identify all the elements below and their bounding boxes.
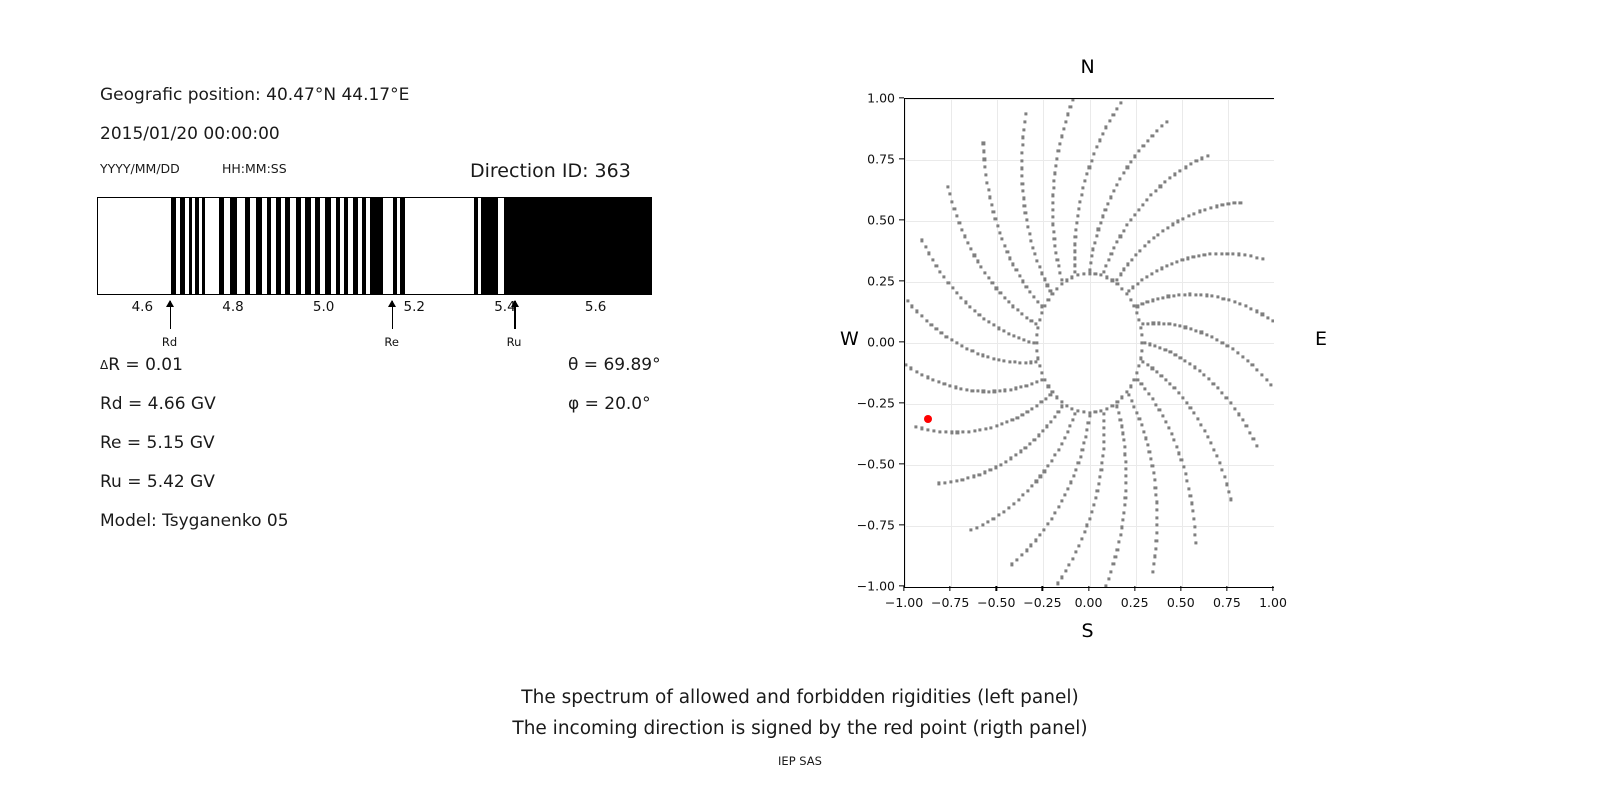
direction-point [1024, 211, 1027, 214]
direction-point [1140, 341, 1143, 344]
direction-point [1019, 361, 1022, 364]
direction-point [1116, 400, 1119, 403]
direction-point [1064, 493, 1067, 496]
direction-point [1016, 309, 1019, 312]
datetime-label: 2015/01/20 00:00:00 [100, 124, 280, 144]
direction-point [1123, 268, 1126, 271]
direction-point [1083, 442, 1086, 445]
direction-point [1116, 278, 1119, 281]
direction-point [1088, 166, 1091, 169]
direction-point [1073, 257, 1076, 260]
ru-value: Ru = 5.42 GV [100, 472, 215, 492]
direction-point [1173, 439, 1176, 442]
direction-point [1102, 440, 1105, 443]
direction-point [1080, 537, 1083, 540]
direction-point [1156, 297, 1159, 300]
direction-point [1154, 344, 1157, 347]
polar-axes: −1.00−0.75−0.50−0.250.000.250.500.751.00… [904, 98, 1274, 588]
direction-point [1027, 340, 1030, 343]
direction-point [1183, 293, 1186, 296]
direction-point [1171, 223, 1174, 226]
direction-point [1026, 489, 1029, 492]
direction-point [983, 271, 986, 274]
direction-point [1101, 215, 1104, 218]
y-tick-label: 0.25 [867, 274, 895, 289]
direction-point [1121, 518, 1124, 521]
direction-point [1038, 266, 1041, 269]
y-tick-label: 1.00 [867, 91, 895, 106]
direction-point [1037, 434, 1040, 437]
direction-point [1056, 258, 1059, 261]
direction-point [1135, 372, 1138, 375]
direction-point [1026, 410, 1029, 413]
direction-point [915, 370, 918, 373]
direction-point [1108, 120, 1111, 123]
direction-point [1030, 239, 1033, 242]
direction-point [1022, 494, 1025, 497]
direction-point [1232, 252, 1235, 255]
direction-point [1261, 257, 1264, 260]
direction-point [984, 427, 987, 430]
rigidity-spectrum-plot [97, 197, 652, 295]
direction-point [1025, 285, 1028, 288]
direction-point [983, 317, 986, 320]
direction-point [1043, 304, 1046, 307]
model-value: Model: Tsyganenko 05 [100, 511, 289, 531]
direction-point [1107, 258, 1110, 261]
direction-point [1042, 528, 1045, 531]
direction-point [925, 319, 928, 322]
direction-point [1154, 403, 1157, 406]
direction-point [1024, 361, 1027, 364]
direction-point [1124, 496, 1127, 499]
direction-point [1069, 106, 1072, 109]
direction-point [1055, 251, 1058, 254]
direction-point [1191, 510, 1194, 513]
direction-point [939, 270, 942, 273]
x-tick-mark [1042, 586, 1043, 591]
direction-point [1125, 391, 1128, 394]
direction-point [1140, 334, 1143, 337]
gridline-horizontal [905, 587, 1274, 588]
direction-point [967, 430, 970, 433]
direction-point [986, 520, 989, 523]
direction-point [1155, 370, 1158, 373]
forbidden-band [504, 198, 515, 294]
direction-point [1030, 382, 1033, 385]
direction-point [1103, 433, 1106, 436]
direction-point [1186, 480, 1189, 483]
direction-point [961, 478, 964, 481]
direction-point [964, 301, 967, 304]
direction-point [906, 300, 909, 303]
direction-point [990, 426, 993, 429]
direction-point [1055, 396, 1058, 399]
direction-point [1092, 503, 1095, 506]
direction-point [1126, 224, 1129, 227]
direction-point [1047, 298, 1050, 301]
direction-point [996, 224, 999, 227]
direction-point [1174, 353, 1177, 356]
gridline-horizontal [905, 282, 1274, 283]
direction-point [1129, 385, 1132, 388]
direction-point [1207, 378, 1210, 381]
direction-point [1122, 229, 1125, 232]
y-tick-label: 0.50 [867, 213, 895, 228]
direction-point [1051, 391, 1054, 394]
direction-point [1034, 253, 1037, 256]
direction-point [915, 425, 918, 428]
direction-point [1140, 424, 1143, 427]
direction-point [1141, 279, 1144, 282]
direction-point [943, 481, 946, 484]
forbidden-band [202, 198, 205, 294]
direction-point [1043, 378, 1046, 381]
direction-point [1154, 493, 1157, 496]
direction-point [1221, 341, 1224, 344]
direction-point [1054, 244, 1057, 247]
direction-point [1256, 368, 1259, 371]
direction-point [971, 389, 974, 392]
x-tick-mark [903, 586, 904, 591]
direction-point [1074, 550, 1077, 553]
y-tick-label: 0.75 [867, 152, 895, 167]
direction-point [1075, 468, 1078, 471]
caption-line-1: The spectrum of allowed and forbidden ri… [0, 682, 1600, 713]
direction-point [1164, 378, 1167, 381]
direction-point [1181, 396, 1184, 399]
direction-point [960, 228, 963, 231]
direction-point [1025, 316, 1028, 319]
direction-point [966, 241, 969, 244]
direction-point [1265, 378, 1268, 381]
direction-point [1014, 453, 1017, 456]
direction-point [1055, 287, 1058, 290]
direction-point [1028, 233, 1031, 236]
direction-point [1151, 570, 1154, 573]
direction-point [956, 431, 959, 434]
direction-point [1182, 465, 1185, 468]
direction-point [1094, 272, 1097, 275]
direction-point [1204, 208, 1207, 211]
direction-point [1057, 448, 1060, 451]
direction-point [1010, 563, 1013, 566]
direction-point [1095, 234, 1098, 237]
direction-point [1155, 501, 1158, 504]
direction-point [983, 158, 986, 161]
direction-point [1016, 416, 1019, 419]
direction-point [1211, 295, 1214, 298]
direction-point [1082, 411, 1085, 414]
direction-point [1015, 269, 1018, 272]
x-tick-mark [1226, 586, 1227, 591]
y-tick-mark [899, 219, 904, 220]
forbidden-band [180, 198, 185, 294]
direction-point [1159, 185, 1162, 188]
direction-point [1059, 271, 1062, 274]
gridline-horizontal [905, 99, 1274, 100]
direction-point [950, 200, 953, 203]
forbidden-band [393, 198, 397, 294]
selected-direction-point[interactable] [924, 415, 932, 423]
direction-point [1071, 276, 1074, 279]
direction-point [1124, 489, 1127, 492]
direction-point [1193, 366, 1196, 369]
direction-point [1113, 246, 1116, 249]
direction-point [1029, 361, 1032, 364]
direction-point [1209, 206, 1212, 209]
direction-point [927, 428, 930, 431]
direction-point [975, 526, 978, 529]
direction-point [1031, 485, 1034, 488]
direction-point [1105, 276, 1108, 279]
direction-point [1189, 362, 1192, 365]
direction-point [1099, 221, 1102, 224]
direction-point [1088, 415, 1091, 418]
direction-point [1045, 425, 1048, 428]
direction-point [1175, 445, 1178, 448]
direction-point [1167, 426, 1170, 429]
direction-point [1148, 450, 1151, 453]
direction-point [1088, 272, 1091, 275]
direction-point [1176, 260, 1179, 263]
direction-point [1198, 370, 1201, 373]
forbidden-band [267, 198, 271, 294]
direction-point [1143, 341, 1146, 344]
direction-point [1060, 442, 1063, 445]
direction-point [1036, 334, 1039, 337]
direction-point [1060, 405, 1063, 408]
direction-point [958, 221, 961, 224]
direction-point [1192, 212, 1195, 215]
direction-point [1255, 310, 1258, 313]
direction-point [1022, 338, 1025, 341]
direction-point [1066, 431, 1069, 434]
direction-point [1134, 253, 1137, 256]
direction-point [967, 477, 970, 480]
direction-point [1052, 230, 1055, 233]
direction-point [1179, 169, 1182, 172]
direction-point [1050, 517, 1053, 520]
geographic-position-label: Geografic position: 40.47°N 44.17°E [100, 85, 409, 105]
direction-point [944, 430, 947, 433]
direction-point [1100, 274, 1103, 277]
direction-point [1112, 113, 1115, 116]
direction-point [930, 324, 933, 327]
direction-point [1151, 299, 1154, 302]
forbidden-band [362, 198, 367, 294]
direction-point [973, 309, 976, 312]
direction-point [955, 342, 958, 345]
direction-point [1098, 139, 1101, 142]
marker-arrow-ru-icon [514, 301, 516, 329]
direction-point [1249, 255, 1252, 258]
direction-point [960, 345, 963, 348]
direction-point [1152, 471, 1155, 474]
direction-point [1136, 305, 1139, 308]
forbidden-band [474, 198, 478, 294]
direction-point [987, 390, 990, 393]
direction-point [1221, 391, 1224, 394]
direction-point [980, 266, 983, 269]
direction-point [978, 473, 981, 476]
x-tick-label: 0.25 [1121, 595, 1149, 610]
direction-point [1178, 452, 1181, 455]
direction-point [945, 335, 948, 338]
rigidity-axis: 4.64.85.05.25.45.6RdReRu [97, 295, 652, 355]
direction-point [1153, 563, 1156, 566]
direction-point [987, 320, 990, 323]
direction-point [1105, 407, 1108, 410]
direction-point [1086, 428, 1089, 431]
direction-point [1126, 263, 1129, 266]
direction-point [1196, 417, 1199, 420]
direction-point [1147, 392, 1150, 395]
direction-point [1020, 554, 1023, 557]
direction-point [1195, 329, 1198, 332]
direction-point [1025, 549, 1028, 552]
marker-arrow-rd-icon [170, 301, 172, 329]
direction-point [1139, 249, 1142, 252]
direction-point [1073, 264, 1076, 267]
direction-point [946, 185, 949, 188]
direction-point [1002, 330, 1005, 333]
forbidden-band [315, 198, 320, 294]
direction-point [1138, 417, 1141, 420]
direction-point [1012, 502, 1015, 505]
direction-point [926, 376, 929, 379]
forbidden-band [336, 198, 341, 294]
direction-point [1125, 474, 1128, 477]
rigidity-tick-label: 4.8 [222, 299, 243, 315]
direction-point [1082, 272, 1085, 275]
direction-point [1009, 388, 1012, 391]
direction-point [915, 310, 918, 313]
direction-point [1065, 404, 1068, 407]
direction-point [960, 387, 963, 390]
direction-point [943, 383, 946, 386]
direction-point [1053, 179, 1056, 182]
direction-point [1057, 505, 1060, 508]
direction-point [1102, 412, 1105, 415]
direction-point [1206, 435, 1209, 438]
direction-point [1032, 246, 1035, 249]
direction-point [1200, 423, 1203, 426]
direction-point [1007, 506, 1010, 509]
direction-point [1194, 541, 1197, 544]
direction-point [1212, 382, 1215, 385]
direction-point [1221, 468, 1224, 471]
direction-point [1130, 258, 1133, 261]
y-tick-mark [899, 97, 904, 98]
direction-point [1187, 214, 1190, 217]
direction-point [1226, 252, 1229, 255]
direction-point [950, 431, 953, 434]
footer-credit: IEP SAS [0, 754, 1600, 768]
direction-point [1097, 228, 1100, 231]
direction-point [1166, 226, 1169, 229]
marker-label-re: Re [384, 335, 399, 349]
direction-point [940, 331, 943, 334]
direction-point [1143, 245, 1146, 248]
direction-point [1161, 229, 1164, 232]
direction-point [938, 430, 941, 433]
direction-point [1151, 367, 1154, 370]
direction-point [1036, 349, 1039, 352]
direction-point [1036, 259, 1039, 262]
direction-point [1107, 577, 1110, 580]
direction-point [1018, 274, 1021, 277]
direction-point [1179, 324, 1182, 327]
direction-point [1006, 421, 1009, 424]
y-tick-label: 0.00 [867, 335, 895, 350]
direction-point [1115, 183, 1118, 186]
direction-point [1040, 272, 1043, 275]
x-tick-label: −0.75 [931, 595, 969, 610]
direction-point [1144, 387, 1147, 390]
direction-point [1138, 318, 1141, 321]
direction-point [1069, 424, 1072, 427]
direction-point [1112, 190, 1115, 193]
direction-point [1168, 323, 1171, 326]
direction-point [1272, 320, 1274, 323]
direction-point [1022, 197, 1025, 200]
direction-point [992, 517, 995, 520]
direction-point [1078, 200, 1081, 203]
direction-point [1060, 283, 1063, 286]
rigidity-tick-label: 5.2 [404, 299, 425, 315]
direction-point [1066, 113, 1069, 116]
direction-point [988, 196, 991, 199]
direction-point [1052, 223, 1055, 226]
direction-point [1261, 313, 1264, 316]
direction-point [1069, 481, 1072, 484]
direction-point [1194, 533, 1197, 536]
direction-point [1212, 448, 1215, 451]
x-tick-mark [949, 586, 950, 591]
direction-point [1147, 322, 1150, 325]
direction-point [911, 305, 914, 308]
direction-point [1037, 326, 1040, 329]
direction-point [1060, 576, 1063, 579]
direction-point [963, 235, 966, 238]
direction-point [1266, 316, 1269, 319]
direction-point [1160, 125, 1163, 128]
direction-point [1180, 459, 1183, 462]
direction-point [1121, 287, 1124, 290]
direction-point [994, 217, 997, 220]
direction-point [1104, 584, 1107, 587]
forbidden-band [353, 198, 358, 294]
direction-point [1132, 304, 1135, 307]
direction-point [1206, 154, 1209, 157]
direction-point [1116, 283, 1119, 286]
direction-point [1035, 480, 1038, 483]
direction-point [1054, 511, 1057, 514]
direction-point [1019, 450, 1022, 453]
direction-point [970, 248, 973, 251]
direction-point [1153, 479, 1156, 482]
direction-point [1177, 391, 1180, 394]
direction-point [955, 214, 958, 217]
direction-point [1150, 272, 1153, 275]
direction-point [1237, 253, 1240, 256]
direction-point [1006, 251, 1009, 254]
compass-label-west: W [840, 328, 859, 350]
direction-point [1193, 525, 1196, 528]
re-value: Re = 5.15 GV [100, 433, 215, 453]
direction-point [1142, 144, 1145, 147]
